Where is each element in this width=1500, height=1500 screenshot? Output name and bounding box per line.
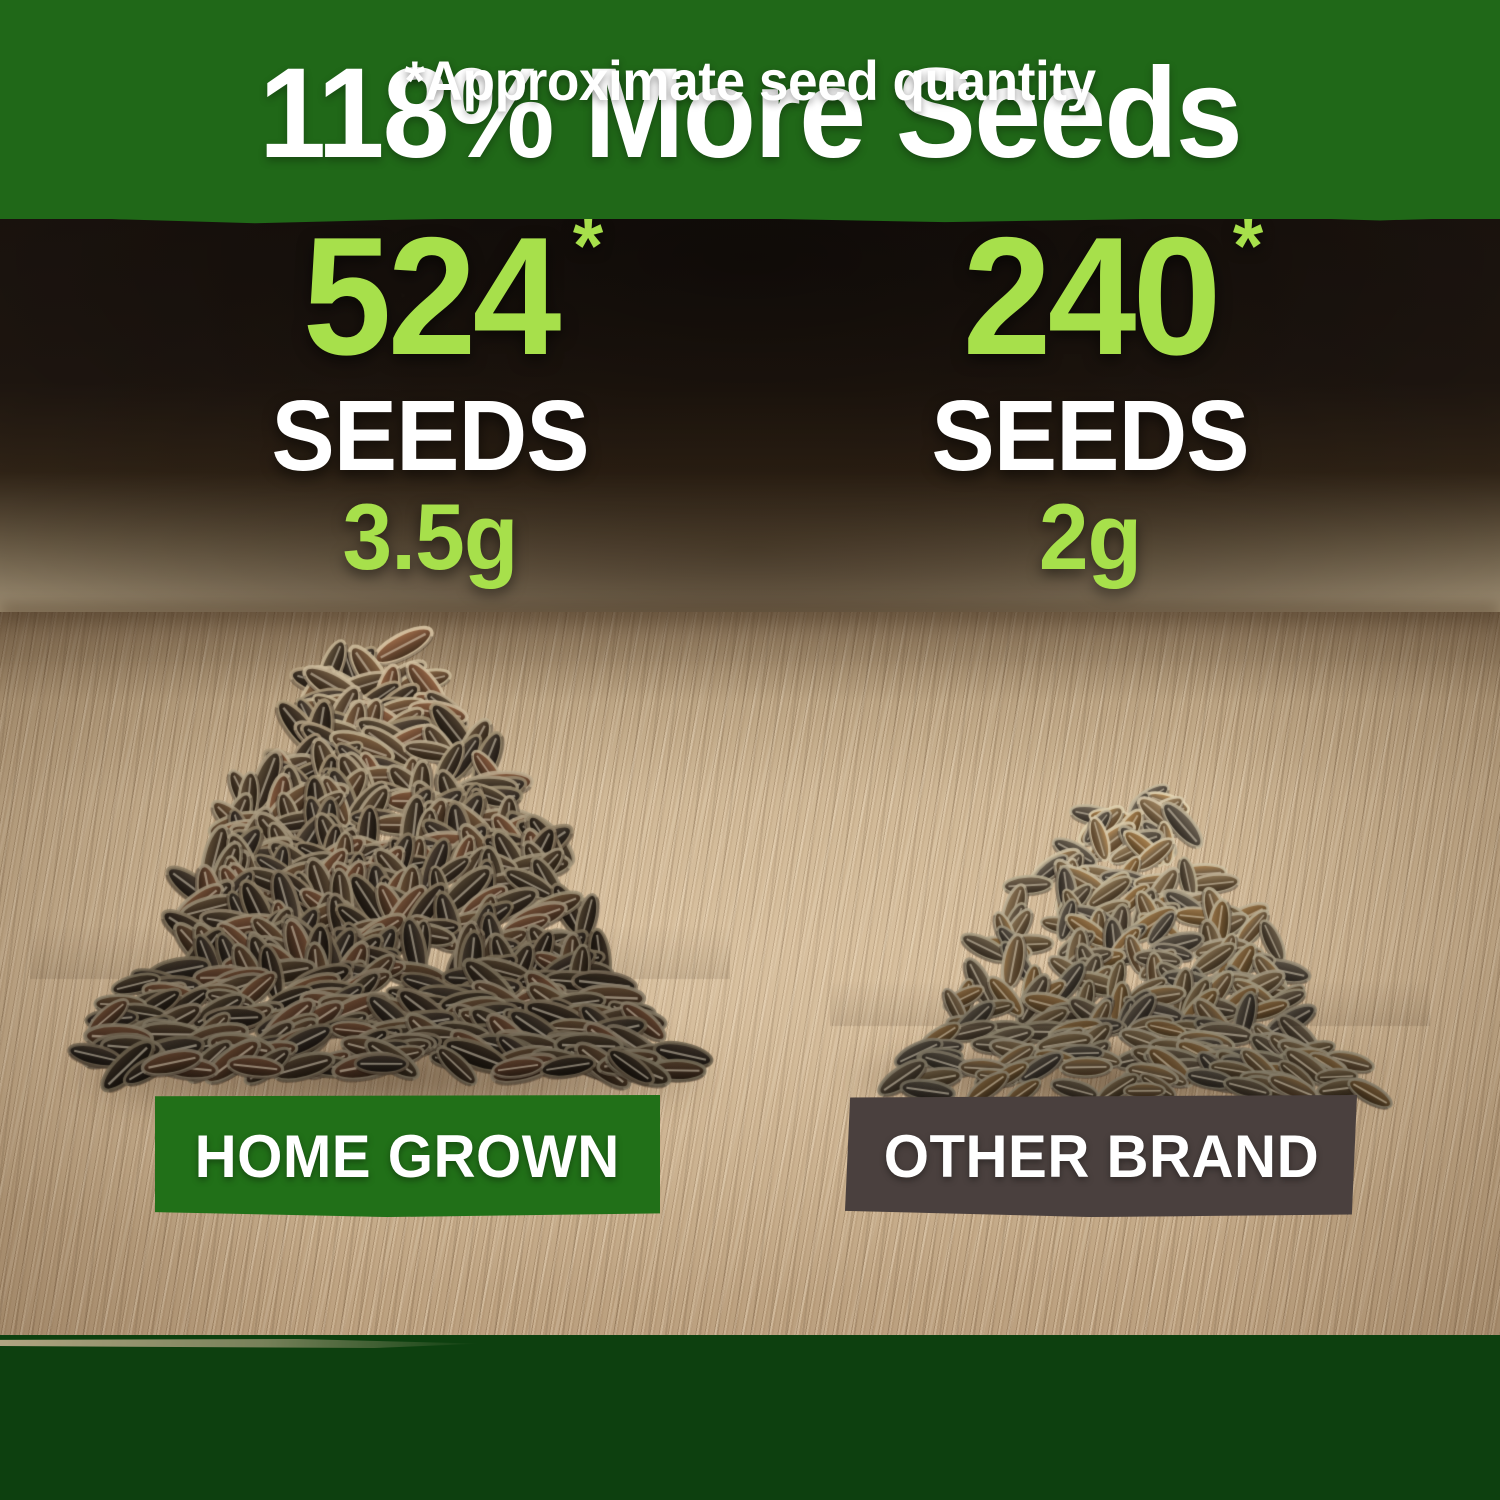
footnote: *Approximate seed quantity	[38, 48, 1463, 113]
seed-pile-home-grown	[30, 585, 730, 1105]
footer-banner	[0, 1335, 1500, 1500]
seed-weight-other-brand: 2g	[805, 490, 1375, 584]
seed-unit-home-grown: SEEDS	[145, 386, 715, 486]
brand-label-text-other-brand: OTHER BRAND	[883, 1122, 1318, 1191]
seed-comparison-poster: 118% More Seeds 524* SEEDS 3.5g 240*	[0, 0, 1500, 1500]
seed-count-other-brand: 240*	[963, 212, 1218, 380]
seed-weight-home-grown: 3.5g	[145, 490, 715, 584]
seed-count-value-home-grown: 524	[303, 202, 558, 390]
seed-pile-other-brand	[830, 740, 1430, 1120]
seed-count-value-other-brand: 240	[963, 202, 1218, 390]
seed-unit-other-brand: SEEDS	[805, 386, 1375, 486]
stat-block-home-grown: 524* SEEDS 3.5g	[130, 212, 730, 584]
stat-block-other-brand: 240* SEEDS 2g	[790, 212, 1390, 584]
seed-count-home-grown: 524*	[303, 212, 558, 380]
brand-label-other-brand: OTHER BRAND	[845, 1095, 1357, 1217]
stat-blocks: 524* SEEDS 3.5g 240* SEEDS 2g	[0, 212, 1500, 632]
brand-label-home-grown: HOME GROWN	[155, 1095, 660, 1217]
brand-label-text-home-grown: HOME GROWN	[195, 1122, 620, 1191]
